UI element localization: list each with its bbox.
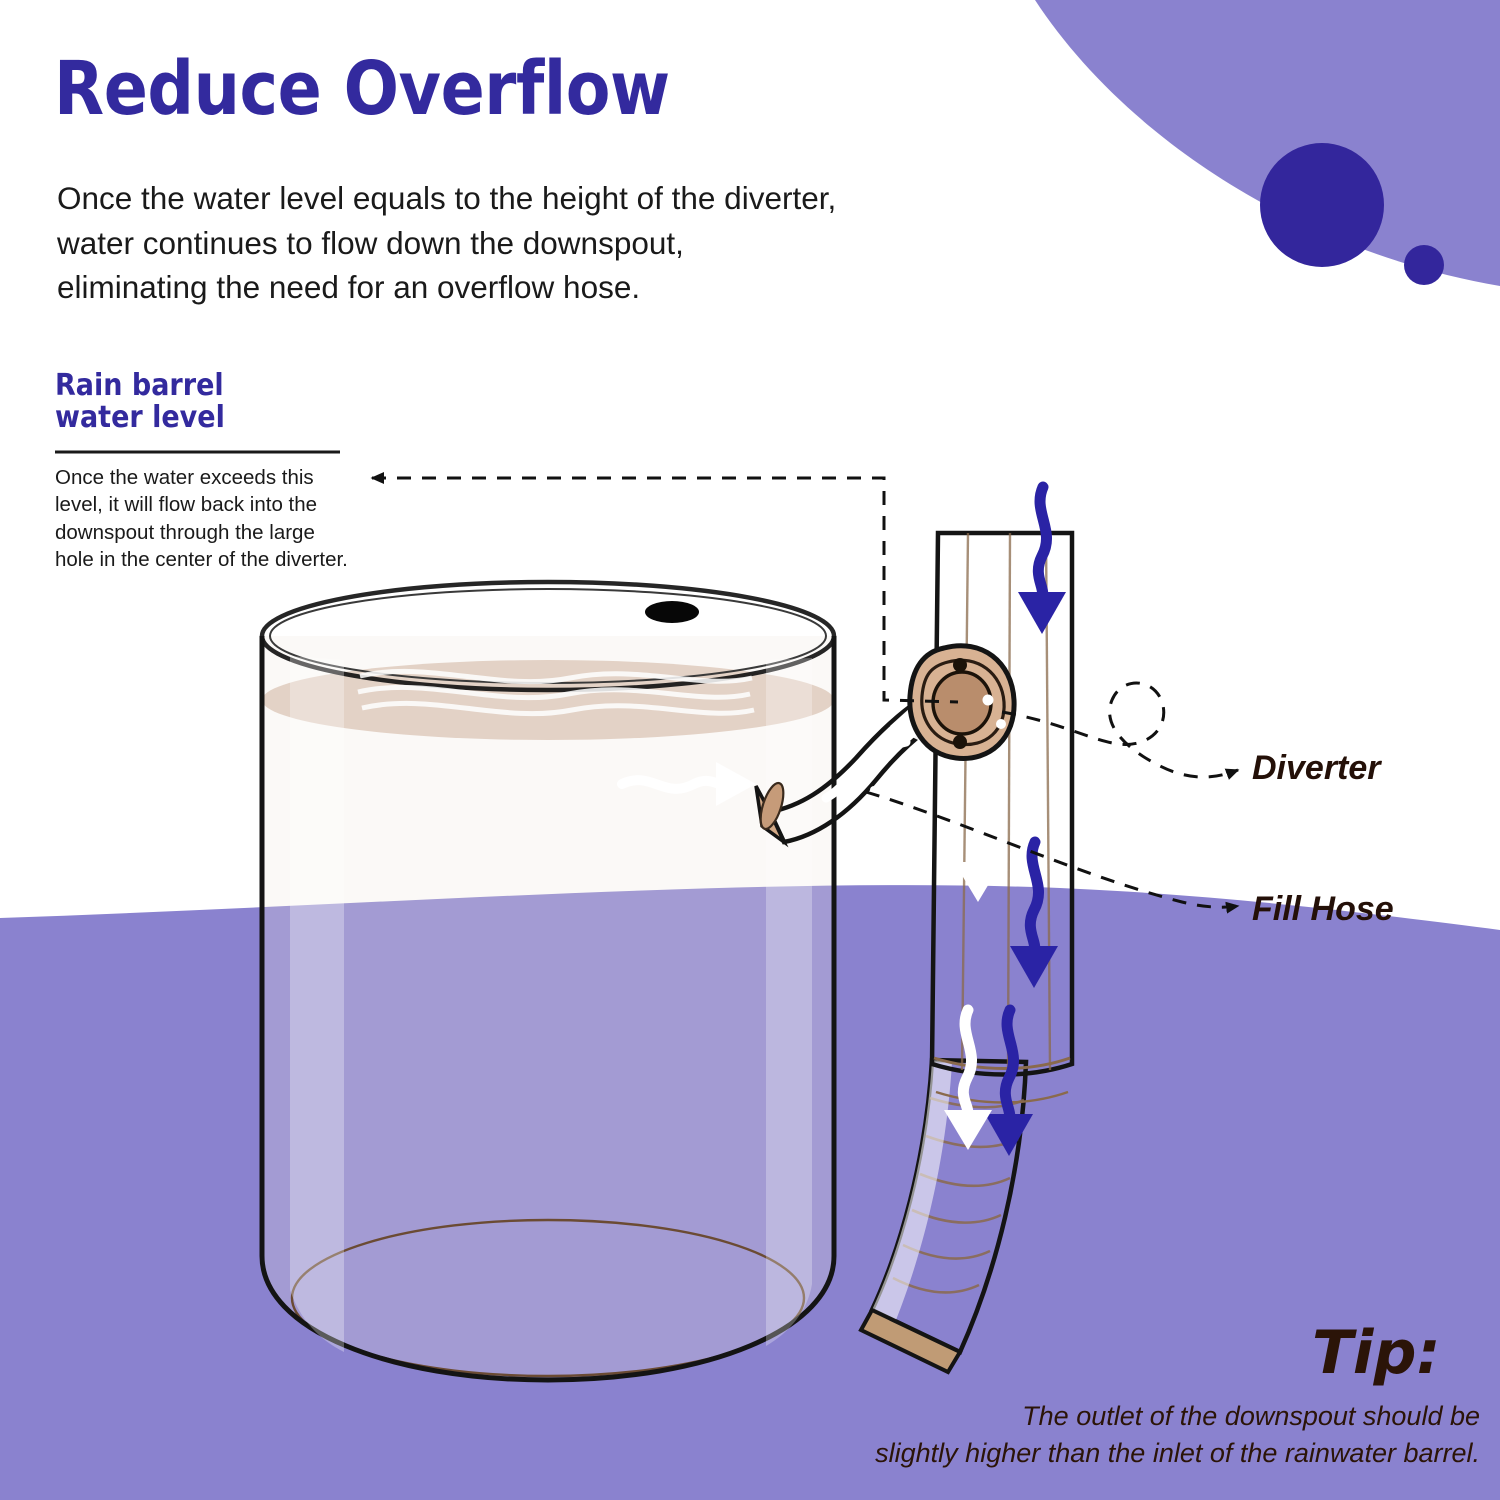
- tip-line-1: The outlet of the downspout should be: [780, 1398, 1480, 1435]
- intro-paragraph: Once the water level equals to the heigh…: [57, 176, 1037, 310]
- page-title: Reduce Overflow: [54, 52, 934, 126]
- water-level-heading-line-2: water level: [55, 402, 352, 434]
- water-level-body-line-1: Once the water exceeds this: [55, 464, 355, 491]
- intro-line-1: Once the water level equals to the heigh…: [57, 176, 1037, 221]
- decor-circle-large: [1260, 143, 1384, 267]
- tip-line-2: slightly higher than the inlet of the ra…: [780, 1435, 1480, 1472]
- rain-barrel: [262, 582, 834, 1380]
- callout-label-diverter: Diverter: [1252, 749, 1381, 788]
- callout-label-fill-hose: Fill Hose: [1252, 890, 1394, 929]
- intro-line-3: eliminating the need for an overflow hos…: [57, 265, 1037, 310]
- water-level-heading: Rain barrel water level: [55, 370, 352, 434]
- water-level-body-line-3: downspout through the large: [55, 519, 355, 546]
- tip-body: The outlet of the downspout should be sl…: [780, 1398, 1480, 1471]
- water-level-body-line-2: level, it will flow back into the: [55, 491, 355, 518]
- water-level-body: Once the water exceeds this level, it wi…: [55, 464, 355, 573]
- decor-circle-small: [1404, 245, 1444, 285]
- decor-purple-blob: [1035, 0, 1500, 286]
- infographic-canvas: Reduce Overflow Once the water level equ…: [0, 0, 1500, 1500]
- water-level-heading-line-1: Rain barrel: [55, 370, 352, 402]
- intro-line-2: water continues to flow down the downspo…: [57, 221, 1037, 266]
- tip-heading: Tip:: [1312, 1318, 1440, 1388]
- barrel-lid: [262, 582, 834, 690]
- barrel-lid-hole: [645, 601, 699, 623]
- water-level-body-line-4: hole in the center of the diverter.: [55, 546, 355, 573]
